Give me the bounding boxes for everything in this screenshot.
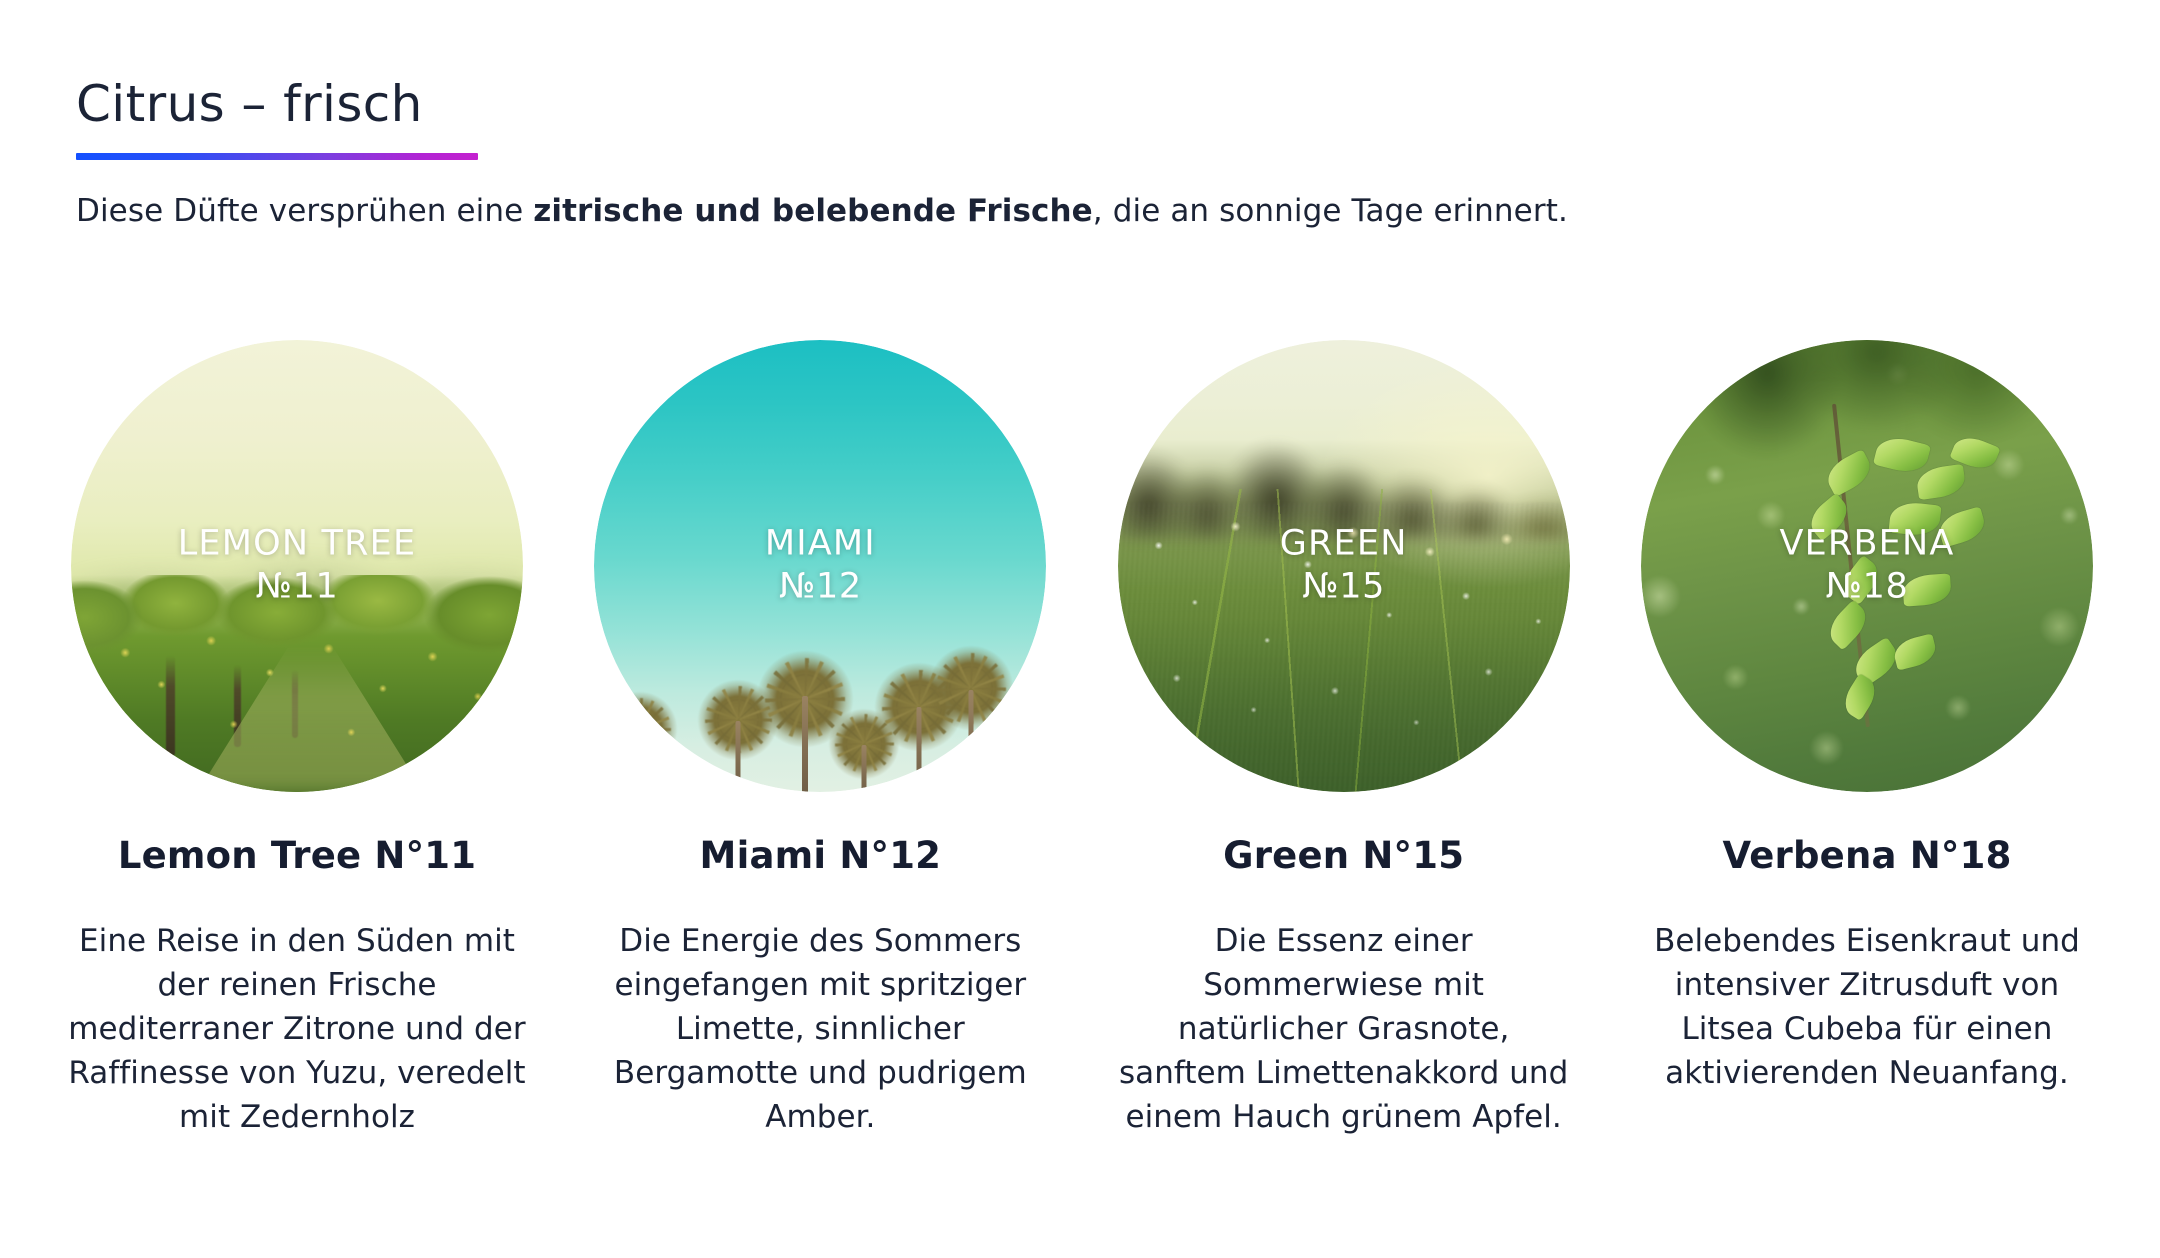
fragrance-image-circle[interactable]: GREEN №15 — [1118, 340, 1570, 792]
title-gradient-rule — [76, 153, 478, 160]
fragrance-image-circle[interactable]: LEMON TREE №11 — [71, 340, 523, 792]
palm-stem — [638, 731, 643, 792]
fragrance-title: Green N°15 — [1223, 834, 1464, 877]
green-leaves-image — [1641, 340, 2093, 792]
palm-stem — [916, 707, 921, 792]
palm-trees-image — [594, 340, 1046, 792]
palm-stem — [802, 696, 808, 792]
subtitle-tail: , die an sonnige Tage erinnert. — [1093, 193, 1568, 229]
fragrance-card[interactable]: MIAMI №12 Miami N°12 Die Energie des Som… — [585, 340, 1055, 1139]
fragrance-description: Eine Reise in den Süden mit der reinen F… — [67, 919, 527, 1139]
canopy-shadow-layer — [1641, 340, 2093, 476]
fragrance-card-grid: LEMON TREE №11 Lemon Tree N°11 Eine Reis… — [62, 340, 2102, 1139]
fragrance-description: Die Essenz einer Sommerwiese mit natürli… — [1114, 919, 1574, 1139]
dewy-meadow-image — [1118, 340, 1570, 792]
fragrance-title: Lemon Tree N°11 — [118, 834, 476, 877]
dew-droplets-layer — [1118, 476, 1570, 792]
fragrance-title: Verbena N°18 — [1722, 834, 2011, 877]
palm-stem — [736, 721, 741, 792]
palm-stem — [1014, 754, 1019, 792]
subtitle-emphasis: zitrische und belebende Frische — [533, 193, 1093, 229]
lemon-fruit-layer — [71, 593, 523, 792]
fragrance-image-circle[interactable]: MIAMI №12 — [594, 340, 1046, 792]
section-header: Citrus – frisch Diese Düfte versprühen e… — [76, 78, 2076, 263]
fragrance-card[interactable]: VERBENA №18 Verbena N°18 Belebendes Eise… — [1632, 340, 2102, 1095]
page-title: Citrus – frisch — [76, 78, 2076, 131]
fragrance-title: Miami N°12 — [700, 834, 942, 877]
palm-tree — [1024, 730, 1047, 792]
palm-stem — [968, 690, 973, 792]
subtitle-lead: Diese Düfte versprühen eine — [76, 193, 533, 229]
fragrance-category-page: Citrus – frisch Diese Düfte versprühen e… — [0, 0, 2160, 1258]
lemon-grove-image — [71, 340, 523, 792]
fragrance-card[interactable]: GREEN №15 Green N°15 Die Essenz einer So… — [1109, 340, 1579, 1139]
palm-tree-layer — [594, 584, 1046, 792]
fragrance-card[interactable]: LEMON TREE №11 Lemon Tree N°11 Eine Reis… — [62, 340, 532, 1139]
fragrance-image-circle[interactable]: VERBENA №18 — [1641, 340, 2093, 792]
section-subtitle: Diese Düfte versprühen eine zitrische un… — [76, 191, 2076, 233]
palm-tree — [603, 692, 677, 792]
palm-stem — [862, 745, 867, 792]
fragrance-description: Die Energie des Sommers eingefangen mit … — [590, 919, 1050, 1139]
palm-crown — [1024, 730, 1047, 790]
fragrance-description: Belebendes Eisenkraut und intensiver Zit… — [1637, 919, 2097, 1095]
